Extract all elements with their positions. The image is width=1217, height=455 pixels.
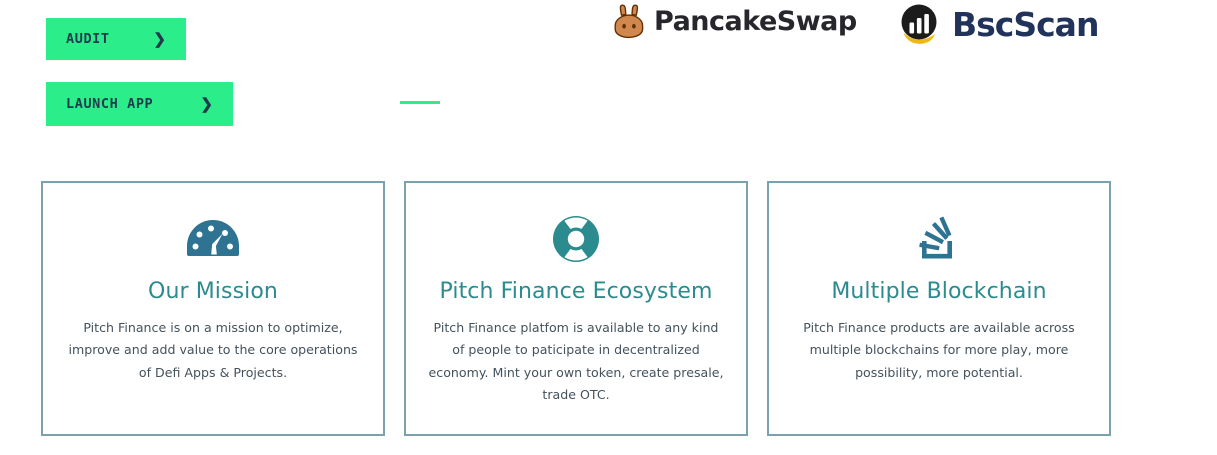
bscscan-circle-chart-icon	[897, 1, 943, 47]
feature-card-body: Pitch Finance platfom is available to an…	[428, 317, 724, 406]
audit-button-label: AUDIT	[66, 31, 110, 47]
partner-logo-pancakeswap-label: PancakeSwap	[654, 6, 857, 37]
chevron-right-icon: ❯	[182, 97, 213, 112]
feature-card-body: Pitch Finance is on a mission to optimiz…	[65, 317, 361, 384]
launch-app-button-label: LAUNCH APP	[66, 96, 153, 112]
section-divider	[400, 101, 440, 104]
feature-card-our-mission[interactable]: Our Mission Pitch Finance is on a missio…	[41, 181, 385, 436]
partner-logo-bscscan[interactable]: BscScan	[897, 1, 1098, 47]
launch-app-button[interactable]: LAUNCH APP ❯	[46, 82, 233, 126]
feature-card-body: Pitch Finance products are available acr…	[791, 317, 1087, 384]
feature-card-title: Our Mission	[148, 279, 278, 304]
feature-card-title: Multiple Blockchain	[831, 279, 1046, 304]
partner-logo-bscscan-label: BscScan	[952, 5, 1098, 44]
partner-logo-pancakeswap[interactable]: PancakeSwap	[612, 3, 857, 39]
feature-card-list: Our Mission Pitch Finance is on a missio…	[41, 181, 1111, 436]
life-ring-icon	[551, 211, 601, 267]
stack-overflow-icon	[914, 211, 964, 267]
audit-button[interactable]: AUDIT ❯	[46, 18, 186, 60]
tachometer-icon	[185, 211, 241, 267]
feature-card-pitch-finance-ecosystem[interactable]: Pitch Finance Ecosystem Pitch Finance pl…	[404, 181, 748, 436]
pancake-bunny-icon	[612, 3, 646, 39]
feature-card-title: Pitch Finance Ecosystem	[439, 279, 712, 304]
chevron-right-icon: ❯	[135, 32, 166, 47]
feature-card-multiple-blockchain[interactable]: Multiple Blockchain Pitch Finance produc…	[767, 181, 1111, 436]
